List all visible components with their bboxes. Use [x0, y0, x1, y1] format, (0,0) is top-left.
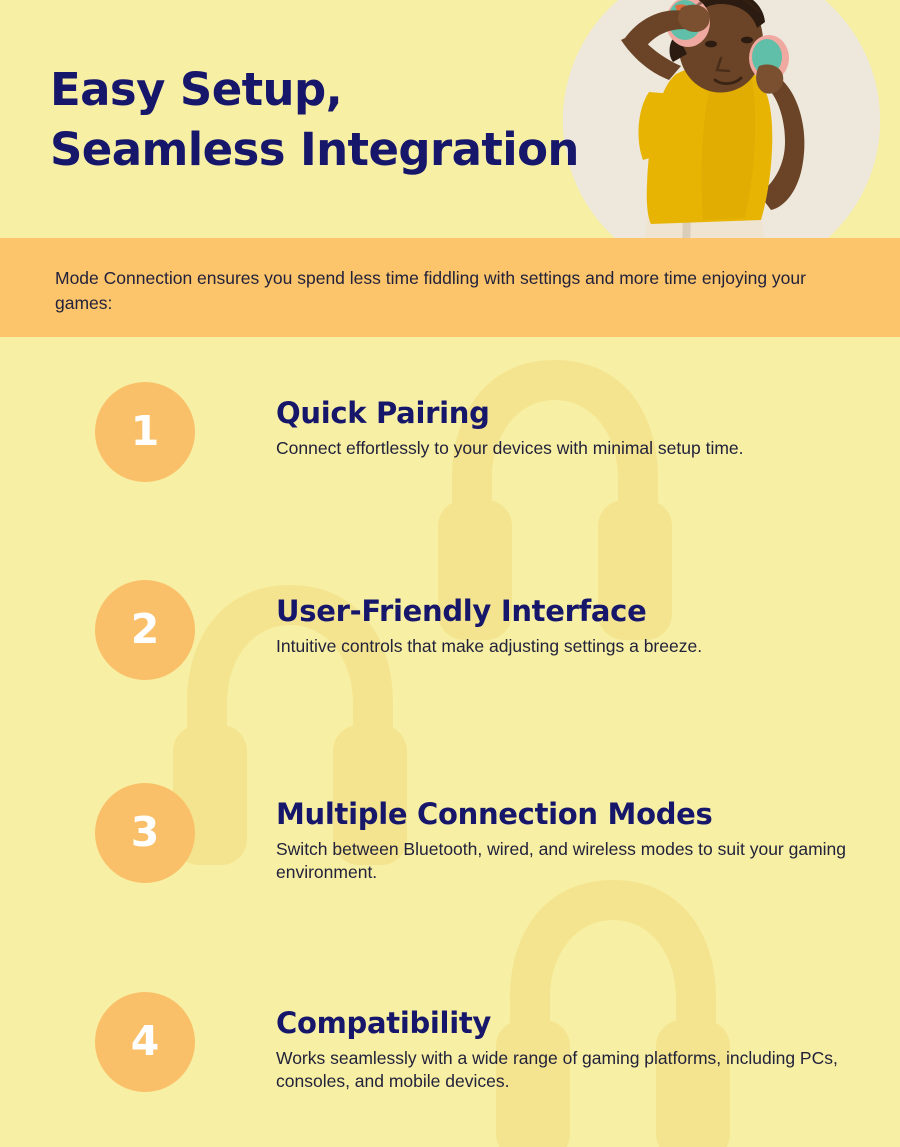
list-item-body: Multiple Connection Modes Switch between… [276, 799, 866, 885]
page-title-line-2: Seamless Integration [50, 120, 579, 180]
list-item-body: Compatibility Works seamlessly with a wi… [276, 1008, 866, 1094]
page-title: Easy Setup, Seamless Integration [50, 60, 579, 180]
list-item-description: Works seamlessly with a wide range of ga… [276, 1047, 851, 1093]
list-item-description: Switch between Bluetooth, wired, and wir… [276, 838, 851, 884]
hero-header: Easy Setup, Seamless Integration [0, 0, 900, 238]
list-item-title: Multiple Connection Modes [276, 799, 866, 830]
page-title-line-1: Easy Setup, [50, 63, 342, 116]
step-number-badge: 4 [95, 992, 195, 1092]
list-item-description: Intuitive controls that make adjusting s… [276, 635, 851, 658]
list-item-title: Compatibility [276, 1008, 866, 1039]
list-item-title: Quick Pairing [276, 398, 866, 429]
poster-canvas: Easy Setup, Seamless Integration Mode Co… [0, 0, 900, 1147]
intro-banner: Mode Connection ensures you spend less t… [0, 238, 900, 337]
step-number-badge: 1 [95, 382, 195, 482]
step-number-badge: 2 [95, 580, 195, 680]
step-number-badge: 3 [95, 783, 195, 883]
list-item-body: Quick Pairing Connect effortlessly to yo… [276, 398, 866, 460]
list-item-title: User-Friendly Interface [276, 596, 866, 627]
list-item-description: Connect effortlessly to your devices wit… [276, 437, 851, 460]
list-item-body: User-Friendly Interface Intuitive contro… [276, 596, 866, 658]
intro-text: Mode Connection ensures you spend less t… [55, 266, 845, 315]
